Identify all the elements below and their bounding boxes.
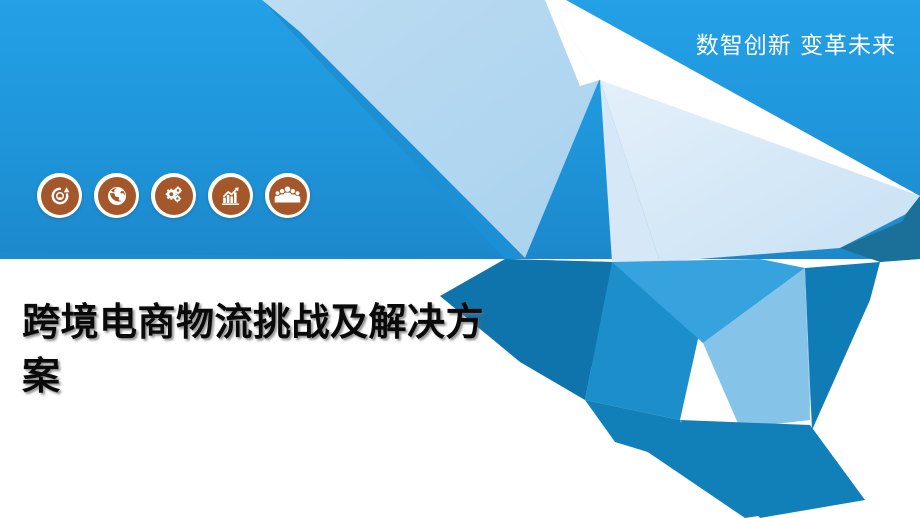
icon-badge-globe[interactable] bbox=[94, 173, 139, 218]
icon-badge-refresh-cycle[interactable] bbox=[37, 173, 82, 218]
slide-tagline: 数智创新 变革未来 bbox=[696, 26, 896, 60]
people-group-icon bbox=[269, 177, 307, 215]
globe-icon bbox=[98, 177, 136, 215]
background-artwork bbox=[0, 0, 920, 518]
icon-badge-gears[interactable] bbox=[151, 173, 196, 218]
presentation-slide: 数智创新 变革未来 bbox=[0, 0, 920, 518]
bar-chart-growth-icon bbox=[212, 177, 250, 215]
page-title: 跨境电商物流挑战及解决方案 bbox=[22, 296, 522, 404]
icon-badge-bar-chart-growth[interactable] bbox=[208, 173, 253, 218]
refresh-cycle-icon bbox=[41, 177, 79, 215]
polygon-right-deep bbox=[805, 262, 880, 430]
icon-strip bbox=[37, 173, 310, 218]
icon-badge-people-group[interactable] bbox=[265, 173, 310, 218]
gears-icon bbox=[155, 177, 193, 215]
